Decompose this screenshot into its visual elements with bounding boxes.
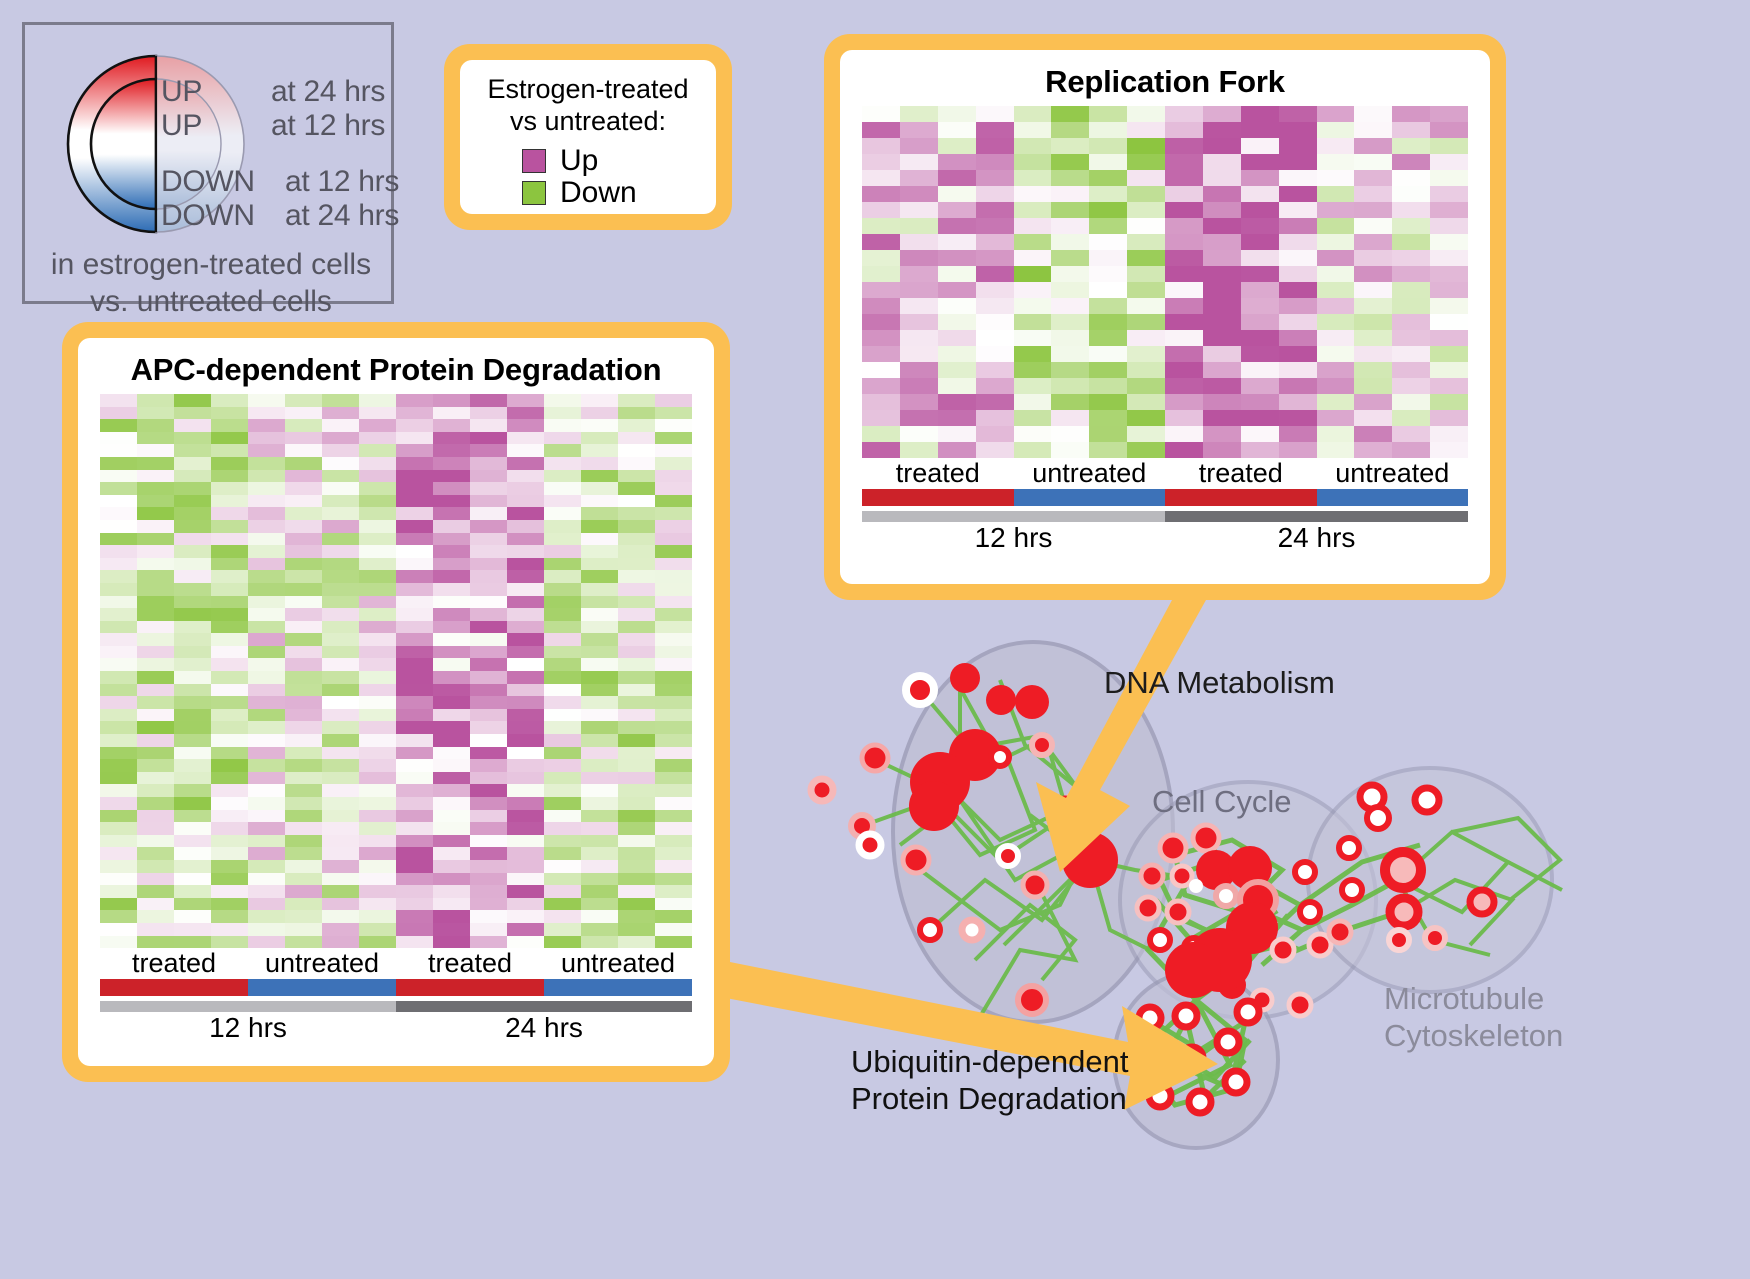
heatmap-cell [248, 646, 285, 659]
heatmap-cell [359, 419, 396, 432]
heatmap-cell [100, 444, 137, 457]
heatmap-cell [433, 432, 470, 445]
heatmap-cell [976, 442, 1014, 458]
heatmap-cell [359, 923, 396, 936]
heatmap-cell [359, 898, 396, 911]
heatmap-cell [322, 507, 359, 520]
network-edges-cellcycle [1148, 838, 1420, 1100]
heatmap-cell [976, 186, 1014, 202]
heatmap-cell [507, 633, 544, 646]
heatmap-cell [100, 658, 137, 671]
heatmap-cell [211, 407, 248, 420]
heatmap-cell [1203, 330, 1241, 346]
heatmap-cell [862, 410, 900, 426]
heatmap-cell [470, 772, 507, 785]
heatmap-cell [322, 658, 359, 671]
heatmap-cell [470, 596, 507, 609]
heatmap-cell [655, 495, 692, 508]
heatmap-cell [655, 658, 692, 671]
heatmap-cell [322, 873, 359, 886]
condition-color-bar [396, 979, 544, 996]
heatmap-cell [100, 495, 137, 508]
heatmap-cell [938, 122, 976, 138]
heatmap-cell [862, 154, 900, 170]
heatmap-cell [655, 432, 692, 445]
heatmap-cell [507, 470, 544, 483]
heatmap-cell [1051, 170, 1089, 186]
heatmap-cell [100, 797, 137, 810]
heatmap-cell [1317, 106, 1355, 122]
heatmap-cell [248, 936, 285, 949]
heatmap-cell [285, 407, 322, 420]
heatmap-cell [1203, 346, 1241, 362]
heatmap-cell [1354, 234, 1392, 250]
heatmap-cell [211, 885, 248, 898]
heatmap-cell [396, 596, 433, 609]
heatmap-cell [211, 873, 248, 886]
heatmap-cell [1241, 314, 1279, 330]
heatmap-cell [470, 734, 507, 747]
heatmap-cell [211, 621, 248, 634]
heatmap-cell [544, 747, 581, 760]
heatmap-cell [1014, 378, 1052, 394]
heatmap-cell [1127, 170, 1165, 186]
heatmap-cell [1014, 298, 1052, 314]
heatmap-cell [1165, 298, 1203, 314]
heatmap-cell [1165, 394, 1203, 410]
heatmap-cell [581, 759, 618, 772]
heatmap-cell [470, 936, 507, 949]
heatmap-cell [1203, 362, 1241, 378]
heatmap-cell [1430, 330, 1468, 346]
heatmap-cell [174, 671, 211, 684]
heatmap-cell [655, 734, 692, 747]
heatmap-cell [507, 885, 544, 898]
heatmap-cell [248, 444, 285, 457]
heatmap-cell [433, 621, 470, 634]
heatmap-cell [359, 444, 396, 457]
heatmap-cell [618, 671, 655, 684]
heatmap-cell [618, 936, 655, 949]
heatmap-cell [655, 633, 692, 646]
heatmap-cell [100, 885, 137, 898]
heatmap-cell [100, 520, 137, 533]
heatmap-cell [433, 873, 470, 886]
heatmap-cell [470, 784, 507, 797]
heatmap-cell [211, 457, 248, 470]
heatmap-cell [248, 470, 285, 483]
heatmap-cell [544, 797, 581, 810]
heatmap-cell [248, 747, 285, 760]
heatmap-cell [1127, 138, 1165, 154]
condition-color-bar [100, 979, 248, 996]
heatmap-cell [544, 873, 581, 886]
heatmap-cell [322, 759, 359, 772]
heatmap-cell [655, 936, 692, 949]
heatmap-cell [1392, 282, 1430, 298]
heatmap-cell [862, 298, 900, 314]
heatmap-cell [581, 470, 618, 483]
heatmap-cell [211, 432, 248, 445]
heatmap-cell [359, 847, 396, 860]
heatmap-cell [211, 847, 248, 860]
heatmap-cell [433, 721, 470, 734]
heatmap-cell [470, 558, 507, 571]
heatmap-cell [433, 885, 470, 898]
heatmap-cell [1014, 234, 1052, 250]
heatmap-cell [322, 885, 359, 898]
heatmap-cell [976, 202, 1014, 218]
heatmap-cell [211, 633, 248, 646]
heatmap-cell [507, 658, 544, 671]
heatmap-cell [322, 495, 359, 508]
arrow-replication-fork-to-dna [1036, 600, 1206, 872]
heatmap-cell [862, 266, 900, 282]
heatmap-cell [1354, 202, 1392, 218]
heatmap-cell [396, 633, 433, 646]
network-edges-microtubule [1398, 818, 1562, 955]
heatmap-cell [1089, 442, 1127, 458]
heatmap-cell [544, 810, 581, 823]
heatmap-cell [470, 583, 507, 596]
heatmap-cell [211, 596, 248, 609]
heatmap-cell [396, 721, 433, 734]
heatmap-cell [900, 266, 938, 282]
heatmap-cell [137, 533, 174, 546]
heatmap-cell [1089, 410, 1127, 426]
heatmap-cell [396, 507, 433, 520]
heatmap-cell [655, 558, 692, 571]
heatmap-cell [581, 482, 618, 495]
heatmap-cell [1241, 394, 1279, 410]
heatmap-cell [655, 596, 692, 609]
heatmap-cell [100, 419, 137, 432]
heatmap-cell [470, 923, 507, 936]
heatmap-cell [581, 847, 618, 860]
heatmap-cell [1317, 394, 1355, 410]
timepoint-color-bar [100, 1001, 396, 1012]
heatmap-cell [1014, 122, 1052, 138]
heatmap-cell [618, 394, 655, 407]
heatmap-cell [544, 910, 581, 923]
heatmap-cell [1014, 282, 1052, 298]
heatmap-cell [1051, 106, 1089, 122]
heatmap-cell [248, 432, 285, 445]
heatmap-cell [211, 936, 248, 949]
heatmap-cell [1203, 378, 1241, 394]
condition-label: untreated [1317, 458, 1469, 489]
heatmap-cell [1165, 186, 1203, 202]
heatmap-cell [322, 898, 359, 911]
colour-wheel-graphic: UP UP DOWN DOWN at 24 hrs at 12 hrs at 1… [65, 53, 247, 235]
heatmap-cell [174, 684, 211, 697]
heatmap-cell [618, 646, 655, 659]
wheel-footer-line-2: vs. untreated cells [25, 284, 397, 321]
heatmap-cell [544, 936, 581, 949]
heatmap-cell [507, 721, 544, 734]
heatmap-cell [211, 923, 248, 936]
heatmap-cell [1127, 410, 1165, 426]
heatmap-cell [1241, 362, 1279, 378]
heatmap-cell [396, 394, 433, 407]
heatmap-cell [1317, 346, 1355, 362]
heatmap-cell [396, 671, 433, 684]
heatmap-cell [544, 784, 581, 797]
heatmap-cell [655, 797, 692, 810]
heatmap-cell [1127, 218, 1165, 234]
heatmap-cell [174, 910, 211, 923]
timepoint-label: 12 hrs [862, 522, 1165, 554]
heatmap-cell [137, 810, 174, 823]
heatmap-cell [1127, 154, 1165, 170]
heatmap-cell [1279, 138, 1317, 154]
heatmap-cell [900, 170, 938, 186]
heatmap-cell [248, 671, 285, 684]
heatmap-cell [507, 784, 544, 797]
heatmap-cell [174, 432, 211, 445]
heatmap-cell [618, 721, 655, 734]
heatmap-cell [507, 898, 544, 911]
heatmap-cell [618, 835, 655, 848]
heatmap-cell [938, 426, 976, 442]
heatmap-cell [100, 394, 137, 407]
heatmap-cell [618, 772, 655, 785]
heatmap-cell [544, 470, 581, 483]
heatmap-cell [900, 234, 938, 250]
heatmap-cell [137, 558, 174, 571]
heatmap-cell [1392, 186, 1430, 202]
heatmap-cell [544, 658, 581, 671]
heatmap-cell [1165, 426, 1203, 442]
heatmap-cell [248, 898, 285, 911]
heatmap-cell [248, 696, 285, 709]
heatmap-cell [174, 709, 211, 722]
heatmap-cell [544, 923, 581, 936]
heatmap-cell [618, 684, 655, 697]
apc-time-labels: 12 hrs24 hrs [100, 1012, 692, 1044]
heatmap-cell [655, 545, 692, 558]
heatmap-cell [1203, 426, 1241, 442]
heatmap-cell [470, 394, 507, 407]
heatmap-cell [137, 873, 174, 886]
heatmap-cell [137, 684, 174, 697]
heatmap-cell [396, 545, 433, 558]
heatmap-cell [1165, 314, 1203, 330]
heatmap-cell [433, 696, 470, 709]
heatmap-cell [322, 646, 359, 659]
heatmap-cell [211, 533, 248, 546]
heatmap-cell [137, 482, 174, 495]
heatmap-cell [655, 533, 692, 546]
heatmap-cell [618, 407, 655, 420]
heatmap-cell [137, 847, 174, 860]
heatmap-cell [1430, 378, 1468, 394]
heatmap-cell [938, 186, 976, 202]
heatmap-cell [1165, 442, 1203, 458]
heatmap-cell [1392, 106, 1430, 122]
heatmap-cell [174, 520, 211, 533]
heatmap-cell [655, 822, 692, 835]
legend-label-up: Up [560, 146, 598, 176]
heatmap-cell [1165, 362, 1203, 378]
wheel-legend-footer: in estrogen-treated cells vs. untreated … [25, 247, 397, 320]
heatmap-cell [285, 608, 322, 621]
heatmap-cell [1127, 442, 1165, 458]
heatmap-cell [507, 910, 544, 923]
heatmap-cell [1241, 122, 1279, 138]
heatmap-cell [322, 633, 359, 646]
heatmap-cell [1051, 362, 1089, 378]
heatmap-cell [174, 835, 211, 848]
heatmap-cell [359, 457, 396, 470]
heatmap-cell [581, 457, 618, 470]
heatmap-cell [1317, 410, 1355, 426]
heatmap-cell [581, 507, 618, 520]
heatmap-cell [359, 696, 396, 709]
heatmap-cell [433, 709, 470, 722]
heatmap-cell [976, 426, 1014, 442]
heatmap-cell [285, 936, 322, 949]
heatmap-cell [1089, 234, 1127, 250]
heatmap-cell [507, 407, 544, 420]
heatmap-cell [359, 633, 396, 646]
heatmap-cell [396, 658, 433, 671]
heatmap-cell [100, 721, 137, 734]
microtubule-label-line-2: Cytoskeleton [1384, 1018, 1534, 1055]
heatmap-cell [618, 596, 655, 609]
heatmap-cell [322, 470, 359, 483]
heatmap-cell [1165, 154, 1203, 170]
heatmap-cell [1317, 282, 1355, 298]
heatmap-cell [655, 407, 692, 420]
heatmap-cell [285, 507, 322, 520]
heatmap-cell [248, 558, 285, 571]
heatmap-cell [655, 482, 692, 495]
heatmap-cell [248, 419, 285, 432]
heatmap-cell [618, 658, 655, 671]
heatmap-cell [544, 646, 581, 659]
heatmap-cell [544, 734, 581, 747]
heatmap-cell [862, 250, 900, 266]
heatmap-cell [433, 470, 470, 483]
heatmap-cell [1392, 378, 1430, 394]
heatmap-cell [322, 684, 359, 697]
timepoint-color-bar [862, 511, 1165, 522]
heatmap-cell [618, 923, 655, 936]
heatmap-cell [248, 495, 285, 508]
cluster-label-dna-metabolism: DNA Metabolism [1104, 665, 1335, 702]
heatmap-cell [655, 520, 692, 533]
heatmap-cell [285, 885, 322, 898]
heatmap-cell [322, 734, 359, 747]
heatmap-cell [433, 810, 470, 823]
heatmap-cell [1430, 426, 1468, 442]
heatmap-cell [1279, 218, 1317, 234]
heatmap-cell [544, 847, 581, 860]
heatmap-cell [285, 734, 322, 747]
updown-legend-card: Estrogen-treated vs untreated: Up Down [444, 44, 732, 230]
heatmap-cell [618, 709, 655, 722]
heatmap-cell [1430, 282, 1468, 298]
timepoint-label: 24 hrs [1165, 522, 1468, 554]
heatmap-cell [359, 596, 396, 609]
heatmap-cell [433, 822, 470, 835]
heatmap-cell [174, 847, 211, 860]
heatmap-cell [1051, 298, 1089, 314]
heatmap-cell [581, 520, 618, 533]
heatmap-cell [581, 583, 618, 596]
heatmap-cell [285, 910, 322, 923]
heatmap-cell [174, 696, 211, 709]
heatmap-cell [1279, 234, 1317, 250]
heatmap-cell [396, 482, 433, 495]
heatmap-cell [1051, 282, 1089, 298]
heatmap-cell [900, 394, 938, 410]
heatmap-cell [248, 721, 285, 734]
heatmap-cell [655, 394, 692, 407]
heatmap-cell [976, 154, 1014, 170]
heatmap-cell [655, 709, 692, 722]
heatmap-cell [137, 583, 174, 596]
heatmap-cell [470, 457, 507, 470]
heatmap-cell [359, 721, 396, 734]
heatmap-cell [396, 709, 433, 722]
heatmap-cell [507, 747, 544, 760]
heatmap-cell [137, 495, 174, 508]
heatmap-cell [900, 106, 938, 122]
heatmap-cell [211, 646, 248, 659]
heatmap-cell [862, 106, 900, 122]
heatmap-cell [470, 810, 507, 823]
heatmap-cell [285, 684, 322, 697]
heatmap-cell [900, 218, 938, 234]
heatmap-cell [359, 394, 396, 407]
colour-wheel-legend: UP UP DOWN DOWN at 24 hrs at 12 hrs at 1… [22, 22, 394, 304]
heatmap-cell [938, 410, 976, 426]
ubiquitin-label-line-1: Ubiquitin-dependent [851, 1044, 1129, 1081]
heatmap-cell [507, 873, 544, 886]
heatmap-cell [1203, 298, 1241, 314]
heatmap-cell [900, 282, 938, 298]
heatmap-cell [862, 442, 900, 458]
heatmap-cell [1051, 378, 1089, 394]
heatmap-cell [211, 608, 248, 621]
heatmap-cell [211, 797, 248, 810]
heatmap-cell [900, 202, 938, 218]
heatmap-cell [470, 482, 507, 495]
heatmap-cell [976, 266, 1014, 282]
heatmap-cell [862, 170, 900, 186]
heatmap-cell [137, 784, 174, 797]
heatmap-cell [581, 810, 618, 823]
heatmap-cell [581, 684, 618, 697]
heatmap-cell [507, 709, 544, 722]
heatmap-cell [1127, 266, 1165, 282]
heatmap-cell [938, 298, 976, 314]
heatmap-cell [100, 784, 137, 797]
heatmap-cell [938, 378, 976, 394]
heatmap-cell [1279, 330, 1317, 346]
heatmap-cell [211, 545, 248, 558]
heatmap-cell [359, 533, 396, 546]
heatmap-cell [359, 822, 396, 835]
heatmap-cell [248, 772, 285, 785]
heatmap-cell [1279, 154, 1317, 170]
heatmap-cell [1317, 250, 1355, 266]
heatmap-cell [1127, 106, 1165, 122]
heatmap-cell [322, 936, 359, 949]
heatmap-cell [285, 759, 322, 772]
